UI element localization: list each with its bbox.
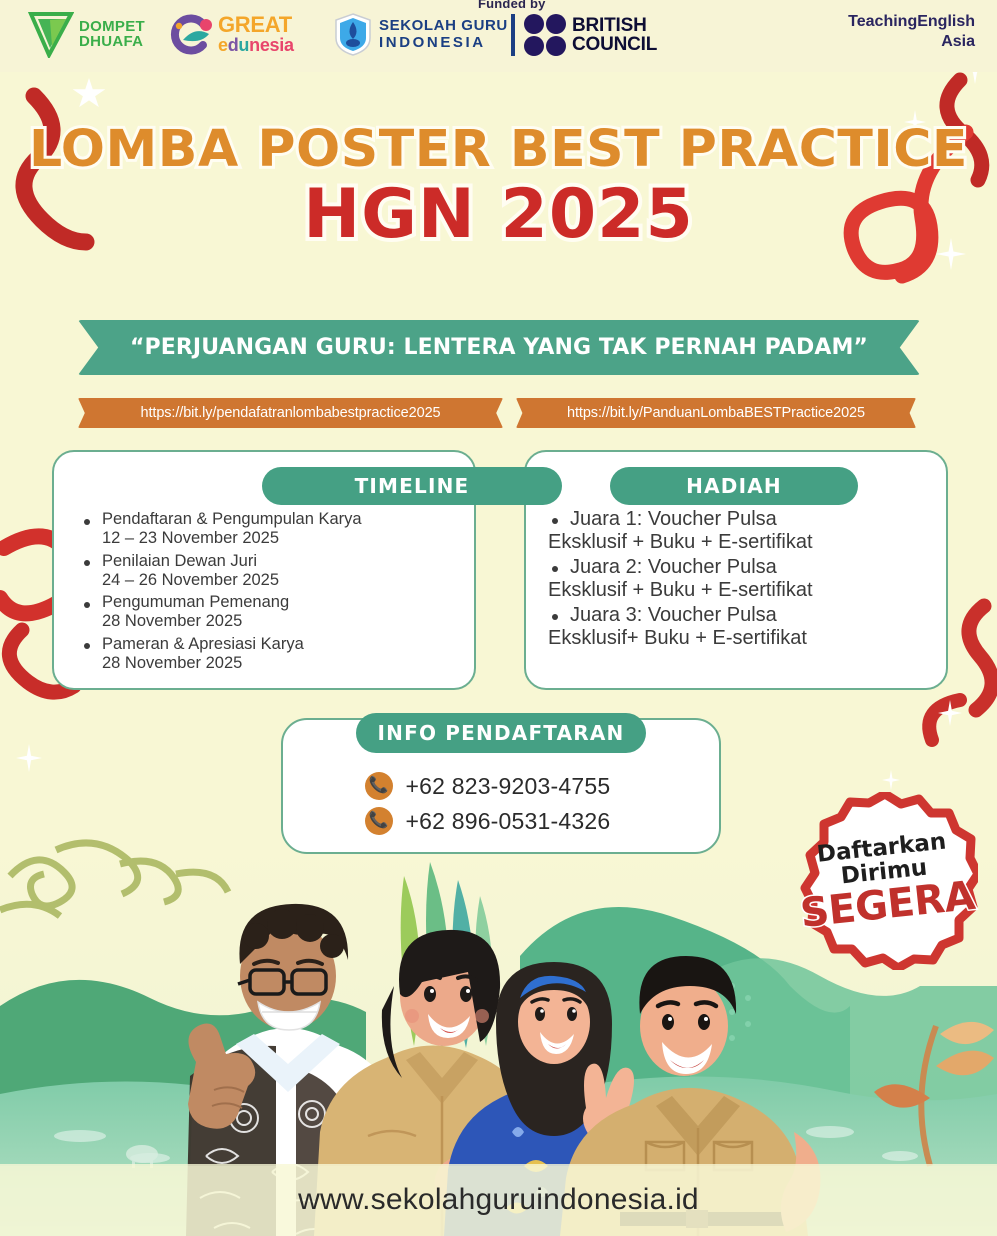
link-ribbon-row: https://bit.ly/pendafatranlombabestpract…: [78, 398, 920, 428]
sgi-line1: SEKOLAH GURU: [379, 17, 508, 34]
list-item: Juara 3: Voucher Pulsa Eksklusif+ Buku +…: [548, 604, 938, 651]
website-url[interactable]: www.sekolahguruindonesia.id: [298, 1183, 699, 1217]
great-line1: GREAT: [218, 12, 292, 37]
list-item: Penilaian Dewan Juri 24 – 26 November 20…: [80, 552, 464, 591]
hadiah-item-detail: Eksklusif + Buku + E-sertifikat: [548, 531, 938, 554]
logo-dompet-dhuafa: DOMPET DHUAFA: [28, 10, 145, 58]
phone-icon: 📞: [365, 772, 393, 800]
list-item: Pameran & Apresiasi Karya 28 November 20…: [80, 635, 464, 674]
tagline-banner: “PERJUANGAN GURU: LENTERA YANG TAK PERNA…: [78, 320, 920, 375]
logo-divider: [511, 14, 515, 56]
bc-line1: BRITISH: [572, 15, 647, 36]
segera-badge-text: Daftarkan Dirimu SEGERA: [783, 783, 987, 979]
list-item: Juara 2: Voucher Pulsa Eksklusif + Buku …: [548, 556, 938, 603]
phone-row[interactable]: 📞 +62 823-9203-4755: [283, 772, 719, 800]
timeline-item-title: Pendaftaran & Pengumpulan Karya: [102, 510, 362, 528]
poster-headline: LOMBA POSTER BEST PRACTICE HGN 2025: [0, 120, 997, 254]
timeline-item-title: Pengumuman Pemenang: [102, 593, 289, 611]
timeline-item-date: 24 – 26 November 2025: [102, 571, 464, 590]
badge-line-3: SEGERA: [798, 872, 977, 936]
great-edunesia-icon: [165, 12, 215, 57]
dompet-dhuafa-text: DOMPET DHUAFA: [79, 19, 145, 50]
sgi-shield-icon: [333, 12, 373, 57]
logo-british-council: BRITISH COUNCIL: [524, 14, 657, 56]
star-confetti: [72, 78, 106, 110]
te-line2: Asia: [941, 33, 975, 50]
list-item: Juara 1: Voucher Pulsa Eksklusif + Buku …: [548, 508, 938, 555]
footer-bar: www.sekolahguruindonesia.id: [0, 1164, 997, 1236]
logo-great-edunesia: GREAT edunesia: [165, 12, 294, 57]
registration-link-button[interactable]: https://bit.ly/pendafatranlombabestpract…: [78, 398, 503, 428]
hadiah-item-title: Juara 3: Voucher Pulsa: [570, 604, 777, 626]
bc-line2: COUNCIL: [572, 34, 657, 55]
phone-list: 📞 +62 823-9203-4755 📞 +62 896-0531-4326: [283, 772, 719, 842]
tagline-text: “PERJUANGAN GURU: LENTERA YANG TAK PERNA…: [130, 335, 868, 360]
segera-badge: Daftarkan Dirimu SEGERA: [792, 792, 978, 970]
title-line-2: HGN 2025: [0, 175, 997, 254]
phone-icon: 📞: [365, 807, 393, 835]
logo-teaching-english: TeachingEnglish Asia: [848, 12, 975, 52]
spark-confetti: [16, 744, 42, 772]
hadiah-list: Juara 1: Voucher Pulsa Eksklusif + Buku …: [548, 508, 938, 651]
british-council-dots-icon: [524, 14, 566, 56]
great-line2: edunesia: [218, 35, 294, 55]
spark-confetti: [938, 700, 962, 726]
dd-line2: DHUAFA: [79, 33, 143, 50]
funded-by-label: Funded by: [478, 0, 546, 11]
timeline-heading-pill: TIMELINE: [262, 467, 562, 505]
timeline-item-title: Penilaian Dewan Juri: [102, 552, 257, 570]
hadiah-item-title: Juara 2: Voucher Pulsa: [570, 556, 777, 578]
sgi-text: SEKOLAH GURU INDONESIA: [379, 18, 508, 50]
poster-root: Funded by DOMPET DHUAFA: [0, 0, 997, 1236]
hadiah-item-title: Juara 1: Voucher Pulsa: [570, 508, 777, 530]
spark-confetti: [882, 770, 900, 790]
timeline-list: Pendaftaran & Pengumpulan Karya 12 – 23 …: [80, 510, 464, 676]
timeline-item-date: 12 – 23 November 2025: [102, 529, 464, 548]
phone-row[interactable]: 📞 +62 896-0531-4326: [283, 807, 719, 835]
hadiah-item-detail: Eksklusif + Buku + E-sertifikat: [548, 579, 938, 602]
title-line-1: LOMBA POSTER BEST PRACTICE: [0, 120, 997, 179]
list-item: Pendaftaran & Pengumpulan Karya 12 – 23 …: [80, 510, 464, 549]
logo-sekolah-guru-indonesia: SEKOLAH GURU INDONESIA: [333, 12, 508, 57]
sgi-line2: INDONESIA: [379, 34, 486, 51]
info-heading-pill: INFO PENDAFTARAN: [356, 713, 646, 753]
sponsor-logo-bar: Funded by DOMPET DHUAFA: [0, 0, 997, 72]
dompet-dhuafa-icon: [28, 10, 74, 58]
timeline-item-date: 28 November 2025: [102, 654, 464, 673]
phone-number: +62 896-0531-4326: [406, 808, 638, 835]
hadiah-heading-pill: HADIAH: [610, 467, 858, 505]
timeline-item-date: 28 November 2025: [102, 612, 464, 631]
great-edunesia-text: GREAT edunesia: [218, 14, 294, 55]
timeline-item-title: Pameran & Apresiasi Karya: [102, 635, 304, 653]
phone-number: +62 823-9203-4755: [406, 773, 638, 800]
british-council-text: BRITISH COUNCIL: [572, 16, 657, 55]
guidebook-link-button[interactable]: https://bit.ly/PanduanLombaBESTPractice2…: [516, 398, 916, 428]
list-item: Pengumuman Pemenang 28 November 2025: [80, 593, 464, 632]
te-line1: TeachingEnglish: [848, 13, 975, 30]
hadiah-item-detail: Eksklusif+ Buku + E-sertifikat: [548, 627, 938, 650]
